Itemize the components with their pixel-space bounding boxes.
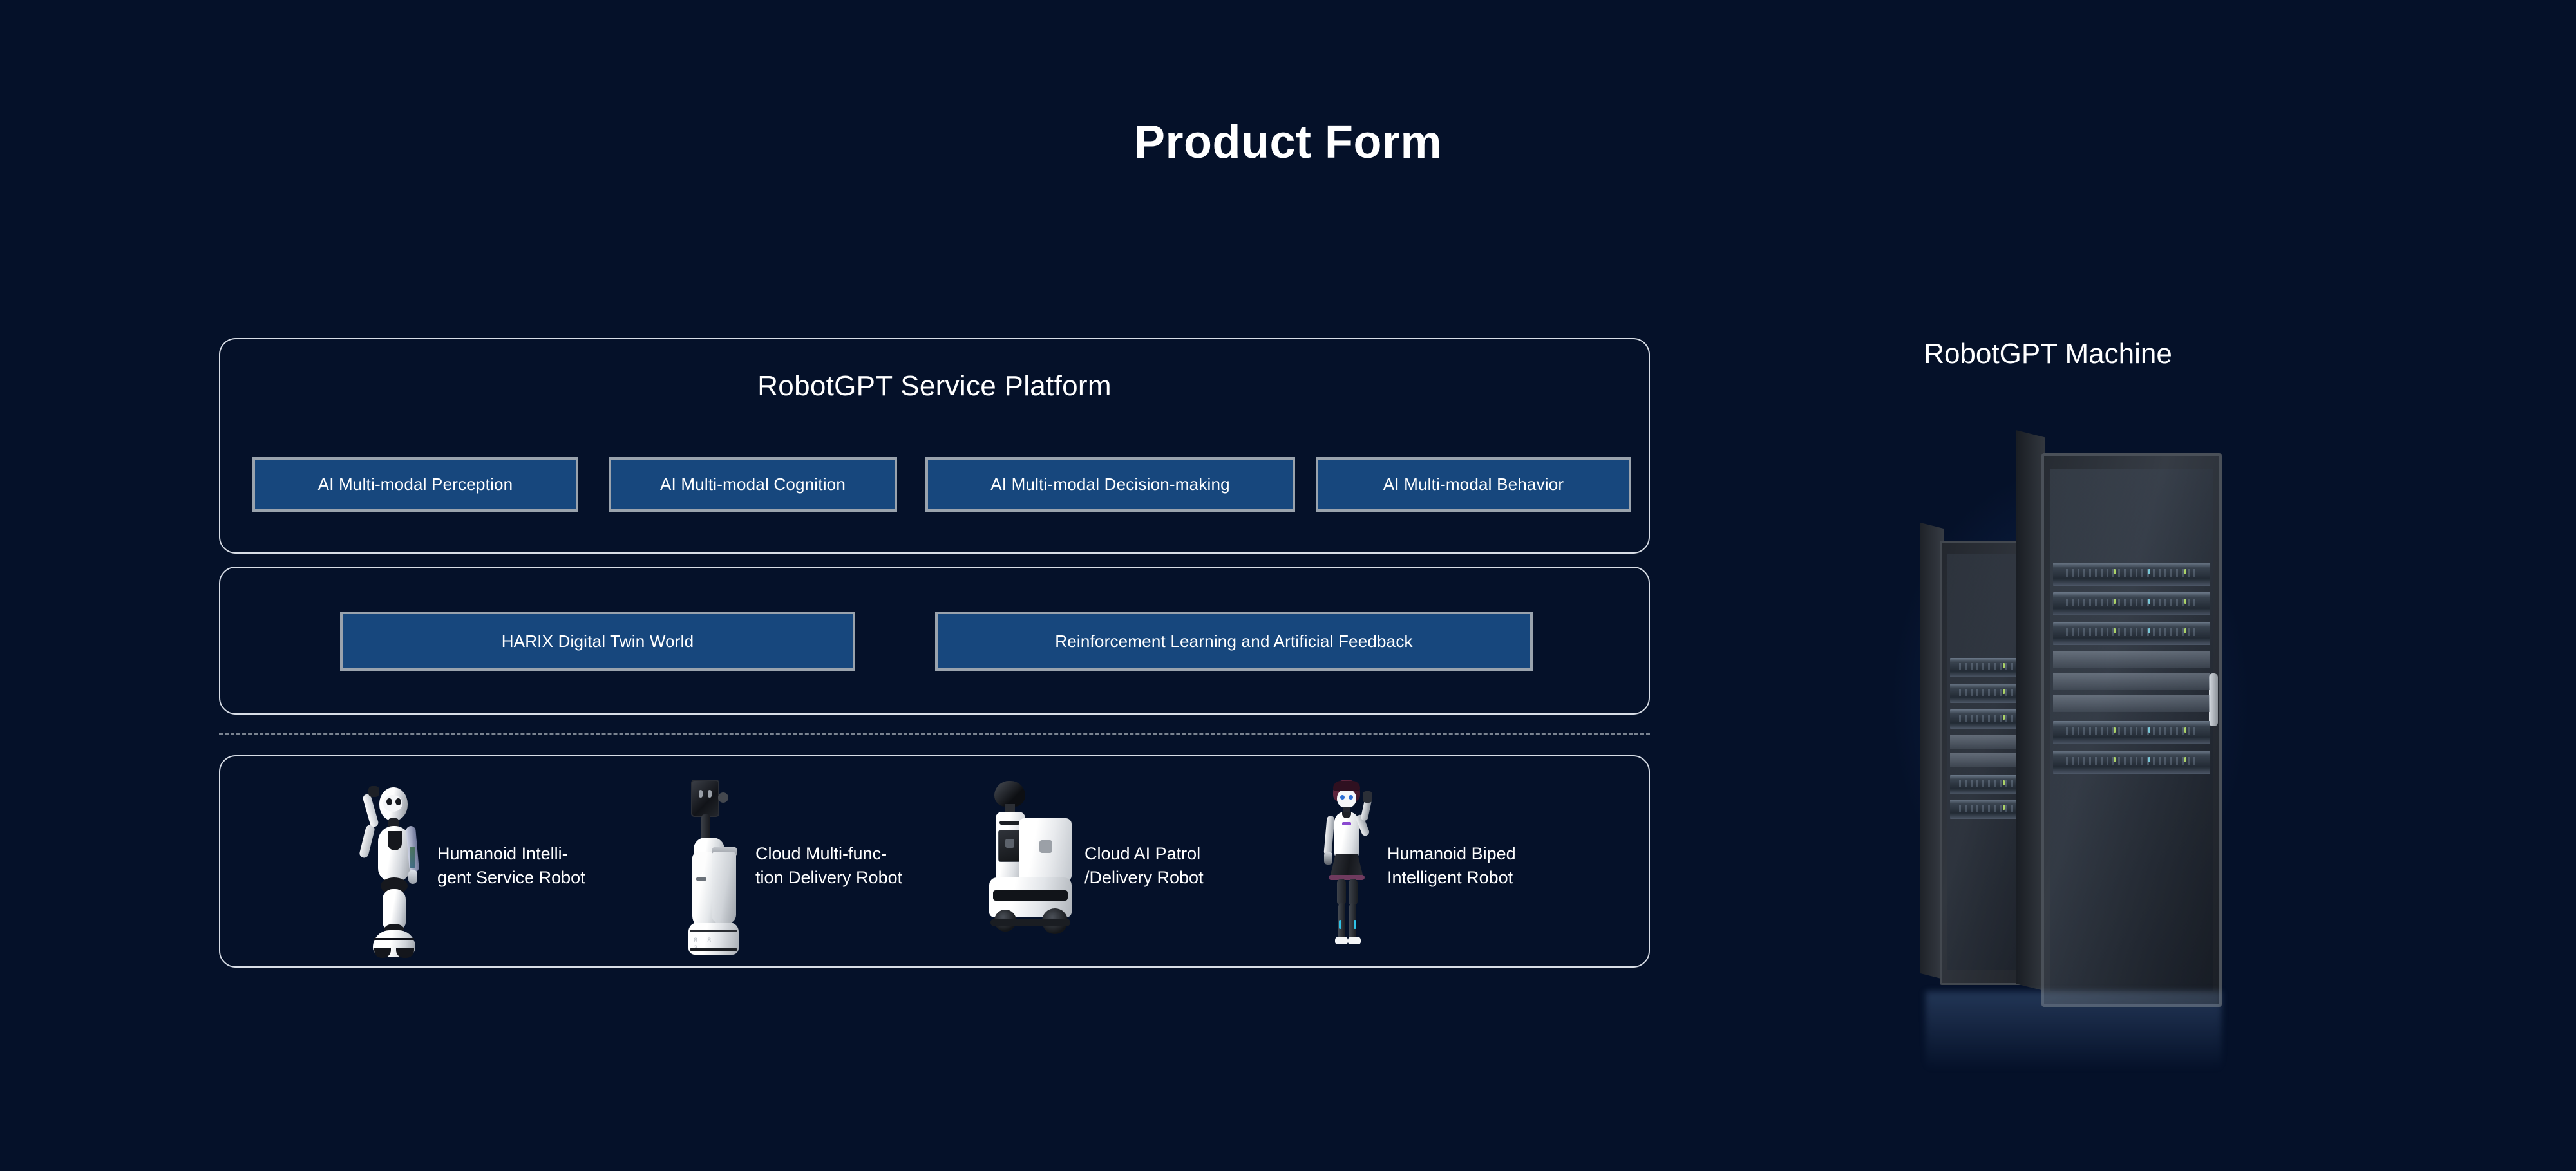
- product-label: Cloud Multi-func- tion Delivery Robot: [755, 842, 902, 890]
- product-label: Humanoid Biped Intelligent Robot: [1387, 842, 1516, 890]
- product-item-patrol-robot[interactable]: Cloud AI Patrol /Delivery Robot: [979, 773, 1204, 959]
- slide-canvas: Product Form RobotGPT Service Platform A…: [0, 0, 2576, 1171]
- product-item-humanoid-service-robot[interactable]: Humanoid Intelli- gent Service Robot: [351, 773, 585, 959]
- delivery-robot-icon: 8 8 3: [679, 776, 746, 956]
- product-item-delivery-robot[interactable]: 8 8 3 Cloud Multi-func- tion Delivery Ro…: [679, 773, 902, 959]
- floor-reflection: [1926, 991, 2222, 1088]
- product-label: Humanoid Intelli- gent Service Robot: [437, 842, 585, 890]
- section-divider: [219, 733, 1650, 735]
- platform-title: RobotGPT Service Platform: [219, 370, 1650, 402]
- server-rack-icon: [2016, 430, 2222, 1009]
- machine-title: RobotGPT Machine: [1790, 338, 2306, 370]
- capability-chip-cognition[interactable]: AI Multi-modal Cognition: [609, 457, 897, 512]
- foundation-chip-reinforcement-learning[interactable]: Reinforcement Learning and Artificial Fe…: [935, 612, 1533, 671]
- capability-chip-decision-making[interactable]: AI Multi-modal Decision-making: [925, 457, 1295, 512]
- page-title: Product Form: [0, 116, 2576, 169]
- capability-chip-behavior[interactable]: AI Multi-modal Behavior: [1316, 457, 1631, 512]
- patrol-robot-icon: [979, 776, 1075, 956]
- foundation-chip-harix-digital-twin[interactable]: HARIX Digital Twin World: [340, 612, 855, 671]
- product-label: Cloud AI Patrol /Delivery Robot: [1084, 842, 1204, 890]
- rack-door-handle[interactable]: [2209, 673, 2218, 726]
- product-item-biped-robot[interactable]: Humanoid Biped Intelligent Robot: [1314, 773, 1516, 959]
- biped-robot-icon: [1314, 776, 1378, 956]
- capability-chip-perception[interactable]: AI Multi-modal Perception: [252, 457, 578, 512]
- humanoid-service-robot-icon: [351, 776, 428, 956]
